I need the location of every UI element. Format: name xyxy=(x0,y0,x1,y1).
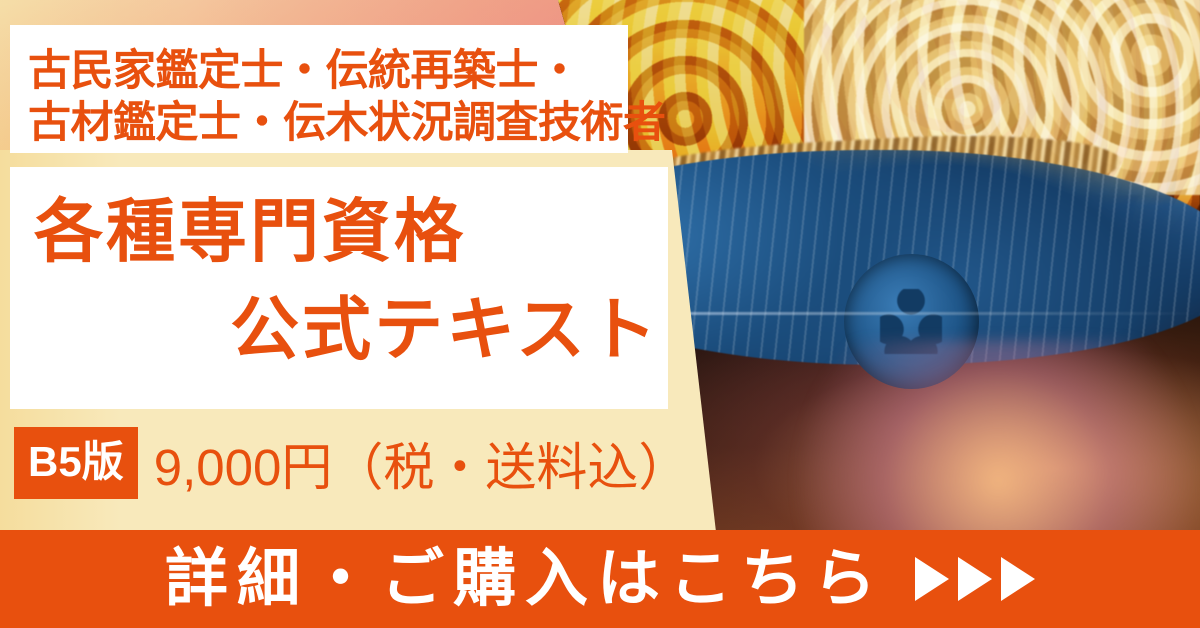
chevron-right-icon xyxy=(915,557,949,601)
cta-arrows xyxy=(915,557,1035,601)
main-headline: 各種専門資格 公式テキスト xyxy=(34,183,664,379)
format-badge: B5版 xyxy=(14,427,138,499)
qualifications-line-1: 古民家鑑定士・伝統再築士・ xyxy=(28,47,581,95)
qualifications-panel: 古民家鑑定士・伝統再築士・ 古材鑑定士・伝木状況調査技術者 xyxy=(10,25,628,153)
qualifications-text: 古民家鑑定士・伝統再築士・ 古材鑑定士・伝木状況調査技術者 xyxy=(28,45,628,150)
headline-panel: 各種専門資格 公式テキスト xyxy=(10,167,668,409)
promo-banner: 古民家 伝統構法、古民家活用のための調査と再生の 古民家鑑定士・伝統再築士・ 古… xyxy=(0,0,1200,628)
price-row: B5版 9,000円（税・送料込） xyxy=(14,426,689,500)
price-amount: 9,000円（税・送料込） xyxy=(154,426,690,500)
main-headline-line-2: 公式テキスト xyxy=(34,281,664,379)
main-headline-line-1: 各種専門資格 xyxy=(34,193,466,270)
chevron-right-icon xyxy=(958,557,992,601)
cta-bar[interactable]: 詳細・ご購入はこちら xyxy=(0,530,1200,628)
cta-label[interactable]: 詳細・ご購入はこちら xyxy=(165,548,885,611)
artwork-warm-glow xyxy=(751,340,1200,532)
qualifications-line-2: 古材鑑定士・伝木状況調査技術者 xyxy=(28,97,628,149)
chevron-right-icon xyxy=(1001,557,1035,601)
